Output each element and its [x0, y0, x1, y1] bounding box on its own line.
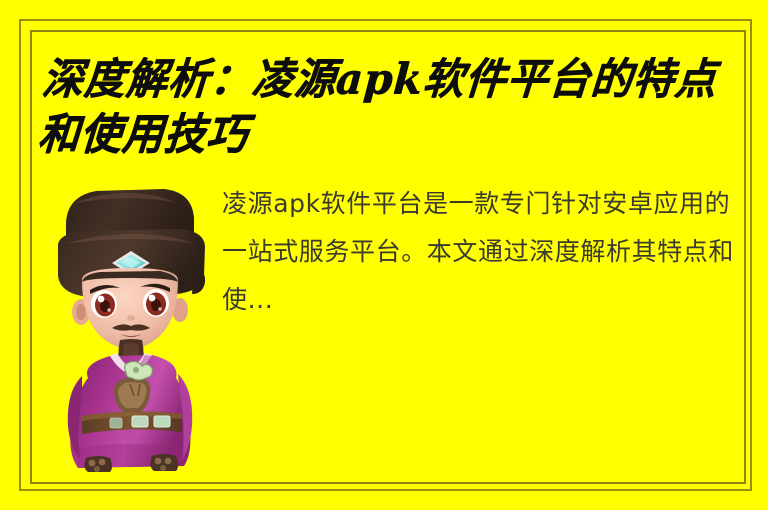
- character-illustration: [52, 182, 208, 474]
- article-summary: 凌源apk软件平台是一款专门针对安卓应用的一站式服务平台。本文通过深度解析其特点…: [222, 180, 750, 324]
- article-title: 深度解析：凌源apk软件平台的特点和使用技巧: [36, 52, 750, 162]
- article-card: 深度解析：凌源apk软件平台的特点和使用技巧 凌源apk软件平台是一款专门针对安…: [0, 0, 768, 510]
